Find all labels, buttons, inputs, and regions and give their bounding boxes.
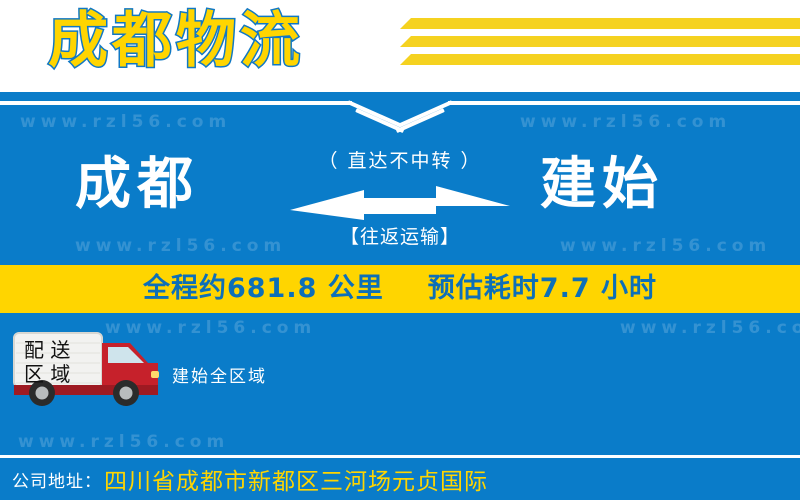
truck-box-text-line2: 区 域: [24, 362, 70, 386]
logistics-poster: 成都物流 成都 建始 （ 直达不中转 ） 【往返运输】: [0, 0, 800, 500]
stripe-2: [400, 36, 800, 47]
duration-metric: 预估耗时7.7 小时: [428, 265, 657, 313]
company-address: 公司地址： 四川省成都市新都区三河场元贞国际: [12, 462, 488, 496]
route-middle: （ 直达不中转 ） 【往返运输】: [280, 130, 520, 260]
divider-line-left: [0, 101, 352, 105]
decorative-stripes: [400, 14, 800, 80]
delivery-truck-icon: 配 送 区 域: [8, 327, 168, 409]
double-arrow-icon: [290, 184, 510, 220]
route-section: 成都 建始 （ 直达不中转 ） 【往返运输】: [0, 130, 800, 260]
arrow-container: [280, 182, 520, 222]
stripe-1: [400, 18, 800, 29]
top-divider: [0, 92, 800, 128]
delivery-coverage-label: 建始全区域: [172, 365, 267, 389]
destination-city: 建始: [540, 150, 664, 220]
address-label: 公司地址：: [12, 467, 102, 492]
address-value: 四川省成都市新都区三河场元贞国际: [104, 462, 488, 496]
chevron-stroke-outer-left: [347, 100, 402, 127]
chevron-down-icon: [348, 98, 452, 128]
watermark-7: www.rzl56.com: [18, 432, 229, 452]
page-title: 成都物流: [48, 4, 304, 78]
direct-shipping-note: （ 直达不中转 ）: [280, 130, 520, 174]
divider-line-right: [448, 101, 800, 105]
origin-city: 成都: [75, 150, 199, 220]
round-trip-label: 【往返运输】: [280, 224, 520, 250]
header-band: 成都物流: [0, 0, 800, 92]
truck-box-text-line1: 配 送: [24, 338, 70, 362]
stripe-3: [400, 54, 800, 65]
bottom-divider: [0, 455, 800, 458]
distance-metric: 全程约681.8 公里: [143, 265, 384, 313]
metrics-band: 全程约681.8 公里 预估耗时7.7 小时: [0, 265, 800, 313]
delivery-section: 配 送 区 域 建始全区域: [0, 325, 800, 410]
